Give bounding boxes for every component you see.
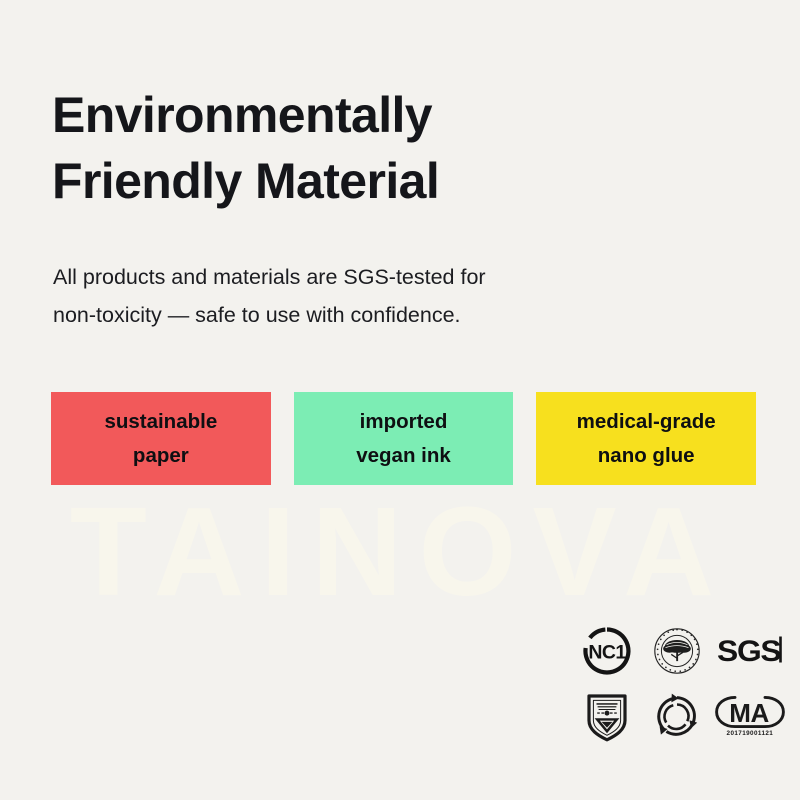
sgs-certification-badge: SGS: [714, 620, 786, 681]
recycling-symbol-badge: [644, 685, 710, 746]
material-chip-nano-glue: medical-grade nano glue: [536, 392, 756, 485]
chip-label-line-2: nano glue: [598, 439, 695, 473]
description-text: All products and materials are SGS-teste…: [53, 258, 653, 335]
nc1-certification-badge: NC1: [574, 620, 640, 681]
cma-certificate-number: 201719001121: [727, 730, 774, 737]
chip-label-line-1: sustainable: [104, 405, 217, 439]
chip-label-line-2: paper: [133, 439, 189, 473]
chip-label-line-2: vegan ink: [356, 439, 451, 473]
chip-label-line-1: medical-grade: [577, 405, 716, 439]
page-title-line-2: Friendly Material: [52, 148, 692, 215]
certification-badge-grid: NC1: [574, 620, 786, 746]
forest-tree-seal-badge: [644, 620, 710, 681]
material-chip-sustainable-paper: sustainable paper: [51, 392, 271, 485]
cma-mark: MA 201719001121: [714, 695, 786, 737]
page-title: Environmentally Friendly Material: [52, 82, 692, 215]
svg-text:SGS: SGS: [717, 633, 781, 667]
chip-label-line-1: imported: [360, 405, 448, 439]
cma-certification-badge: MA 201719001121: [714, 685, 786, 746]
svg-text:NC1: NC1: [588, 641, 626, 663]
page-title-line-1: Environmentally: [52, 82, 692, 149]
material-chip-row: sustainable paper imported vegan ink med…: [51, 392, 756, 485]
poster-canvas: TAINOVA Environmentally Friendly Materia…: [0, 0, 800, 800]
description-line-2: non-toxicity — safe to use with confiden…: [53, 296, 653, 334]
brand-watermark: TAINOVA: [70, 489, 730, 615]
material-chip-vegan-ink: imported vegan ink: [294, 392, 514, 485]
shield-quality-badge: [574, 685, 640, 746]
svg-text:MA: MA: [729, 698, 769, 728]
description-line-1: All products and materials are SGS-teste…: [53, 258, 653, 296]
